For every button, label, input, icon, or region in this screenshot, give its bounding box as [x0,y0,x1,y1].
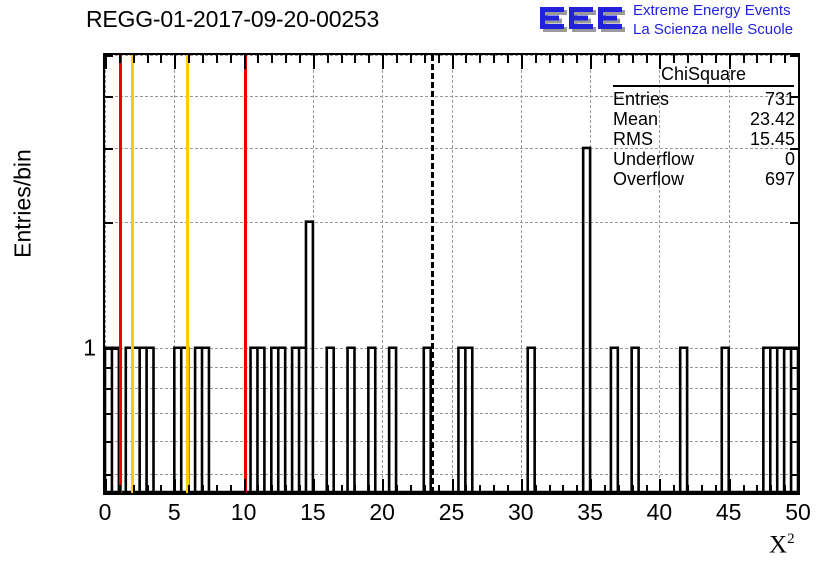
x-axis-title: X2 [769,531,795,559]
x-tick [618,485,620,493]
x-tick-label: 5 [168,499,181,526]
x-tick-top [327,55,329,63]
histogram-canvas: REGG-01-2017-09-20-00253 Extreme Energy … [0,0,836,572]
x-tick-label: 50 [785,499,811,526]
x-tick [368,485,370,493]
x-tick-top [479,55,481,63]
x-tick-top [410,55,412,63]
x-tick [410,485,412,493]
x-tick-top [743,55,745,63]
x-tick-top [119,55,121,63]
x-tick-label: 25 [439,499,465,526]
x-tick-top [382,55,384,69]
upper-red-threshold [244,55,247,493]
y-tick [105,388,113,390]
x-tick-label: 35 [577,499,603,526]
x-tick-top [715,55,717,63]
x-tick-top [244,55,246,69]
x-tick-top [535,55,537,63]
x-tick [174,479,176,493]
histogram-outline [105,148,798,493]
x-tick-top [424,55,426,63]
x-tick [230,485,232,493]
stats-row-key: Mean [613,109,658,129]
x-tick [549,485,551,493]
x-tick [562,485,564,493]
stats-row: Underflow0 [607,149,800,169]
stats-box: ChiSquare Entries731Mean23.42RMS15.45Und… [607,64,800,189]
x-tick [590,479,592,493]
x-tick [299,485,301,493]
stats-row: Mean23.42 [607,109,800,129]
x-tick [701,485,703,493]
x-tick-top [202,55,204,63]
x-tick [354,485,356,493]
x-tick [493,485,495,493]
x-tick-top [632,55,634,63]
x-tick-top [562,55,564,63]
x-tick [188,485,190,493]
x-tick-top [354,55,356,63]
y-tick-right [790,367,798,369]
x-tick-top [701,55,703,63]
x-tick [396,485,398,493]
y-tick [105,55,113,57]
x-tick-label: 45 [716,499,742,526]
x-tick-top [230,55,232,63]
x-tick-top [521,55,523,69]
x-tick-top [604,55,606,63]
x-tick [327,485,329,493]
x-tick [715,485,717,493]
x-tick-top [507,55,509,63]
x-tick [659,479,661,493]
x-tick [632,485,634,493]
stats-row: Overflow697 [607,169,800,189]
x-tick [105,479,107,493]
x-tick [784,485,786,493]
x-tick-top [618,55,620,63]
eee-logo: Extreme Energy Events La Scienza nelle S… [539,2,829,42]
x-tick [743,485,745,493]
x-tick [147,485,149,493]
x-tick [646,485,648,493]
x-tick [382,479,384,493]
x-tick-top [396,55,398,63]
x-tick-top [549,55,551,63]
x-tick [133,485,135,493]
stats-row-value: 731 [765,89,795,109]
x-tick [313,479,315,493]
x-tick [521,479,523,493]
x-tick [465,485,467,493]
x-tick-top [576,55,578,63]
x-tick-top [493,55,495,63]
x-tick-top [438,55,440,63]
x-tick-top [756,55,758,63]
stats-row-value: 0 [785,149,795,169]
x-tick-top [452,55,454,69]
y-tick [105,148,113,150]
stats-rows: Entries731Mean23.42RMS15.45Underflow0Ove… [607,89,800,189]
x-tick [271,485,273,493]
x-tick-top [133,55,135,63]
x-tick [341,485,343,493]
x-tick-top [160,55,162,63]
x-tick-label: 0 [99,499,112,526]
lower-red-threshold [119,55,122,493]
x-tick [729,479,731,493]
x-tick-top [465,55,467,63]
x-tick [160,485,162,493]
x-tick-top [257,55,259,63]
x-tick-top [770,55,772,63]
x-tick-top [313,55,315,69]
stats-box-title: ChiSquare [613,64,794,87]
x-tick [604,485,606,493]
x-tick-label: 40 [647,499,673,526]
logo-line-1: Extreme Energy Events [633,2,793,21]
x-tick [770,485,772,493]
x-tick [119,485,121,493]
x-tick-top [368,55,370,63]
x-tick [576,485,578,493]
y-tick-right [790,222,798,224]
x-tick [798,479,800,493]
x-tick-top [105,55,107,69]
x-tick [424,485,426,493]
x-tick-top [285,55,287,63]
x-tick-top [687,55,689,63]
x-tick-top [299,55,301,63]
x-tick [479,485,481,493]
x-tick [202,485,204,493]
upper-yellow-threshold [186,55,189,493]
eee-logo-mark [539,4,627,38]
x-tick-top [341,55,343,63]
lower-yellow-threshold [131,55,134,493]
x-tick [452,479,454,493]
y-tick [105,367,113,369]
y-tick [105,96,113,98]
x-tick-label: 15 [300,499,326,526]
y-tick [105,348,119,350]
x-tick [507,485,509,493]
x-tick-label: 20 [369,499,395,526]
stats-row: RMS15.45 [607,129,800,149]
x-tick-top [174,55,176,69]
y-tick-right [790,413,798,415]
page-title: REGG-01-2017-09-20-00253 [86,6,379,33]
stats-row-key: Overflow [613,169,684,189]
y-tick-right [790,474,798,476]
x-tick-top [590,55,592,69]
x-tick-top [147,55,149,63]
x-tick-top [673,55,675,63]
x-tick [257,485,259,493]
x-tick [216,485,218,493]
x-tick-top [188,55,190,63]
stats-row-value: 697 [765,169,795,189]
y-tick-right [784,348,798,350]
x-tick-top [784,55,786,63]
x-tick [687,485,689,493]
stats-row-key: RMS [613,129,653,149]
y-tick-right [790,55,798,57]
logo-line-2: La Scienza nelle Scuole [633,21,793,40]
y-tick [105,413,113,415]
mean-line [431,55,434,493]
x-tick-label: 10 [231,499,257,526]
y-tick [105,474,113,476]
x-tick [285,485,287,493]
stats-row-value: 15.45 [750,129,795,149]
x-tick [244,479,246,493]
y-tick-right [790,441,798,443]
x-tick-top [216,55,218,63]
x-tick [438,485,440,493]
y-tick [105,222,113,224]
x-tick-label: 30 [508,499,534,526]
stats-row-key: Entries [613,89,669,109]
x-tick [673,485,675,493]
y-tick-label: 1 [70,334,96,361]
y-tick [105,441,113,443]
y-axis-title: Entries/bin [10,119,37,289]
x-tick [535,485,537,493]
x-tick-top [271,55,273,63]
y-tick-right [790,388,798,390]
x-tick-top [646,55,648,63]
stats-row-key: Underflow [613,149,694,169]
stats-row: Entries731 [607,89,800,109]
stats-row-value: 23.42 [750,109,795,129]
x-tick [756,485,758,493]
